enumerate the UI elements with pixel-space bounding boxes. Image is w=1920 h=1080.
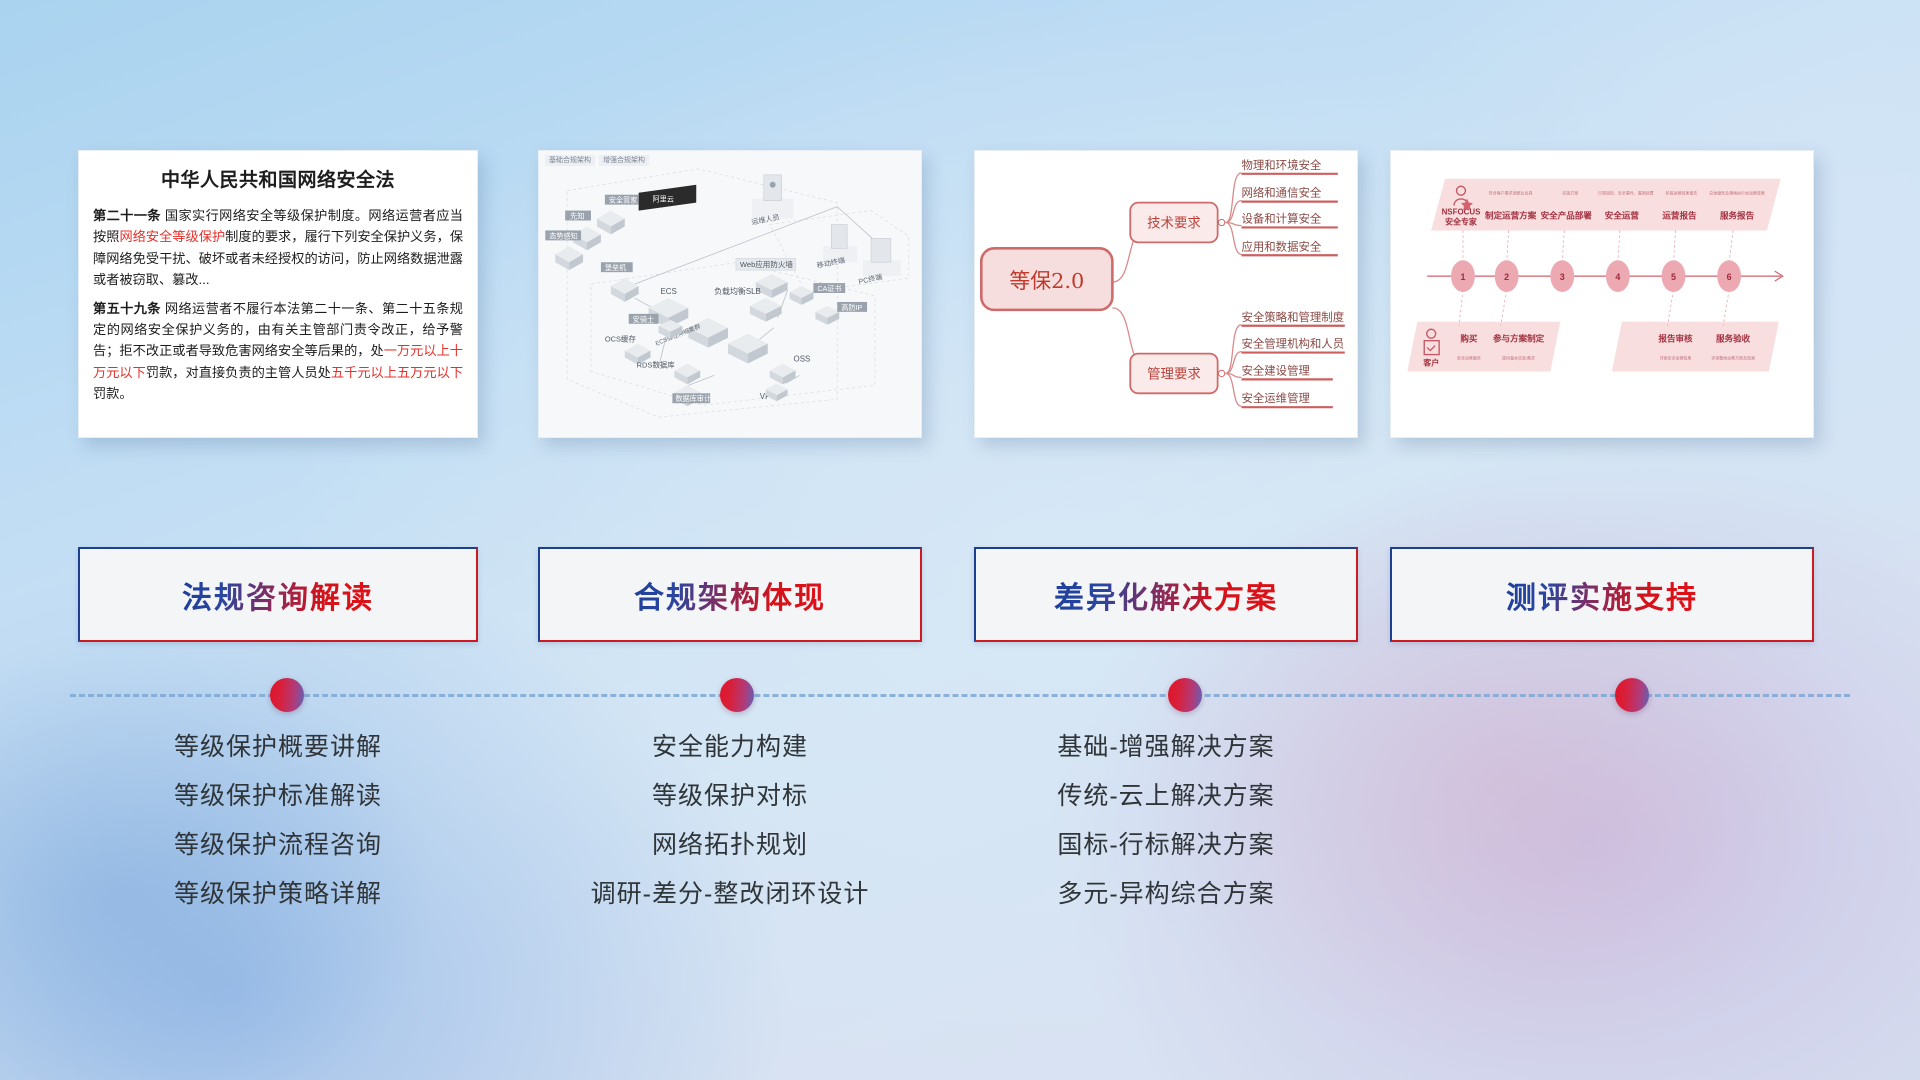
svg-text:安全管家: 安全管家 bbox=[609, 196, 638, 205]
list-item: 等级保护策略详解 bbox=[78, 882, 478, 907]
title-boxes-row: 法规咨询解读 合规架构体现 差异化解决方案 测评实施支持 bbox=[0, 547, 1920, 645]
mindmap-leaf-1-2: 安全建设管理 bbox=[1241, 363, 1310, 377]
feature-lists-row: 等级保护概要讲解 等级保护标准解读 等级保护流程咨询 等级保护策略详解 安全能力… bbox=[0, 735, 1920, 1035]
svg-text:阿里云: 阿里云 bbox=[653, 195, 674, 204]
mindmap-leaf-1-1: 安全管理机构和人员 bbox=[1241, 337, 1344, 351]
nsfocus-bottom-3-title: 服务验收 bbox=[1716, 333, 1751, 344]
list-item: 多元-异构综合方案 bbox=[974, 882, 1358, 907]
mindmap-leaf-0-1: 网络和通信安全 bbox=[1241, 186, 1321, 200]
mindmap-leaf-0-0: 物理和环境安全 bbox=[1241, 158, 1321, 172]
mindmap-leaf-0-3: 应用和数据安全 bbox=[1241, 239, 1321, 253]
mindmap-svg: 等保2.0 技术要求 物理和环境安全 网络和通信安全 设备和计算安全 bbox=[975, 151, 1357, 437]
mindmap-leaf-1-0: 安全策略和管理制度 bbox=[1241, 310, 1344, 324]
svg-text:OCS缓存: OCS缓存 bbox=[605, 334, 637, 344]
nsfocus-brand-line1: NSFOCUS bbox=[1442, 208, 1481, 217]
feature-list-3: 基础-增强解决方案 传统-云上解决方案 国标-行标解决方案 多元-异构综合方案 bbox=[974, 735, 1358, 931]
architecture-title-tag: 阿里云 bbox=[639, 185, 697, 211]
nsfocus-bottom-1-title: 参与方案制定 bbox=[1493, 333, 1545, 344]
svg-text:OSS: OSS bbox=[794, 355, 811, 364]
law-article-21-highlight: 网络安全等级保护 bbox=[119, 229, 225, 244]
slide-stage: 中华人民共和国网络安全法 第二十一条 国家实行网络安全等级保护制度。网络运营者应… bbox=[0, 0, 1920, 1080]
nsfocus-canvas: NSFOCUS 安全专家 客户 制定运营方案 符合客户需求调研后出具 安全产品部… bbox=[1391, 151, 1813, 437]
title-box-3-label: 差异化解决方案 bbox=[1054, 573, 1278, 617]
nsfocus-top-4-title: 服务报告 bbox=[1720, 210, 1755, 221]
list-item: 网络拓扑规划 bbox=[538, 833, 922, 858]
list-item: 传统-云上解决方案 bbox=[974, 784, 1358, 809]
list-item: 等级保护对标 bbox=[538, 784, 922, 809]
nsfocus-bottom-0-title: 购买 bbox=[1460, 333, 1478, 344]
image-cards-row: 中华人民共和国网络安全法 第二十一条 国家实行网络安全等级保护制度。网络运营者应… bbox=[0, 150, 1920, 450]
mindmap-branch-1-label: 管理要求 bbox=[1147, 366, 1201, 382]
nsfocus-brand-line2: 安全专家 bbox=[1445, 216, 1477, 226]
list-item: 调研-差分-整改闭环设计 bbox=[538, 882, 922, 907]
list-item: 基础-增强解决方案 bbox=[974, 735, 1358, 760]
svg-text:数据库审计: 数据库审计 bbox=[675, 394, 711, 403]
nsfocus-step-2: 3 bbox=[1560, 272, 1565, 282]
law-body: 中华人民共和国网络安全法 第二十一条 国家实行网络安全等级保护制度。网络运营者应… bbox=[79, 151, 477, 421]
mindmap-leaf-1-3: 安全运维管理 bbox=[1241, 391, 1310, 405]
svg-text:高防IP: 高防IP bbox=[841, 303, 862, 312]
svg-text:先知: 先知 bbox=[570, 212, 584, 221]
list-item: 安全能力构建 bbox=[538, 735, 922, 760]
law-article-59-label: 第五十九条 bbox=[93, 301, 161, 316]
mindmap-root-label: 等保2.0 bbox=[1009, 269, 1084, 293]
nsfocus-customer-label: 客户 bbox=[1422, 358, 1439, 368]
list-item: 等级保护概要讲解 bbox=[78, 735, 478, 760]
feature-list-2: 安全能力构建 等级保护对标 网络拓扑规划 调研-差分-整改闭环设计 bbox=[538, 735, 922, 931]
svg-text:负载均衡SLB: 负载均衡SLB bbox=[714, 286, 761, 296]
timeline-dot-2[interactable] bbox=[720, 678, 754, 712]
nsfocus-step-5: 6 bbox=[1727, 272, 1732, 282]
svg-text:堡垒机: 堡垒机 bbox=[605, 263, 626, 272]
timeline bbox=[70, 693, 1850, 697]
svg-text:ECS: ECS bbox=[660, 287, 676, 296]
nsfocus-step-1: 2 bbox=[1504, 272, 1509, 282]
law-article-59-text-2: 罚款，对直接负责的主管人员处 bbox=[146, 365, 331, 380]
timeline-rail bbox=[70, 694, 1850, 697]
list-item: 等级保护流程咨询 bbox=[78, 833, 478, 858]
nsfocus-bottom-1-sub: 提供基本信息/需求 bbox=[1502, 356, 1535, 361]
nsfocus-top-3-sub: 阶段运营效果报告 bbox=[1666, 191, 1698, 196]
nsfocus-step-4: 5 bbox=[1671, 272, 1676, 282]
law-article-59: 第五十九条 网络运营者不履行本法第二十一条、第二十五条规定的网络安全保护义务的，… bbox=[93, 298, 463, 405]
title-box-2-label: 合规架构体现 bbox=[634, 573, 826, 617]
nsfocus-bottom-0-sub: 安全运营服务 bbox=[1457, 356, 1481, 361]
nsfocus-top-4-sub: 总体服务及落地执行本运营效果 bbox=[1709, 191, 1765, 196]
nsfocus-svg: NSFOCUS 安全专家 客户 制定运营方案 符合客户需求调研后出具 安全产品部… bbox=[1391, 151, 1813, 437]
title-box-2[interactable]: 合规架构体现 bbox=[538, 547, 922, 642]
nsfocus-bottom-2-sub: 评审安全运营效果 bbox=[1660, 356, 1692, 361]
timeline-dot-1[interactable] bbox=[270, 678, 304, 712]
mindmap-branch-0-label: 技术要求 bbox=[1147, 215, 1201, 231]
nsfocus-step-3: 4 bbox=[1615, 272, 1620, 282]
title-box-4[interactable]: 测评实施支持 bbox=[1390, 547, 1814, 642]
card-architecture-diagram[interactable]: 基础合规架构 增强合规架构 bbox=[538, 150, 922, 438]
nsfocus-top-2-sub: 日常巡检、安全事件、漏洞处置 bbox=[1598, 191, 1654, 196]
nsfocus-top-3-title: 运营报告 bbox=[1662, 210, 1697, 221]
architecture-svg: 阿里云 安全管家 bbox=[539, 151, 921, 437]
law-article-59-text-3: 罚款。 bbox=[93, 386, 133, 401]
title-box-1-label: 法规咨询解读 bbox=[182, 573, 374, 617]
svg-text:安骑士: 安骑士 bbox=[633, 315, 654, 324]
nsfocus-top-0-sub: 符合客户需求调研后出具 bbox=[1489, 191, 1533, 196]
svg-text:CA证书: CA证书 bbox=[817, 284, 841, 293]
law-article-59-highlight-2: 五千元以上五万元以下 bbox=[331, 365, 463, 380]
timeline-dot-3[interactable] bbox=[1168, 678, 1202, 712]
mindmap-leaf-0-2: 设备和计算安全 bbox=[1241, 212, 1321, 226]
list-item: 等级保护标准解读 bbox=[78, 784, 478, 809]
card-law-text[interactable]: 中华人民共和国网络安全法 第二十一条 国家实行网络安全等级保护制度。网络运营者应… bbox=[78, 150, 478, 438]
nsfocus-top-1-sub: 实施方案 bbox=[1562, 191, 1578, 196]
nsfocus-top-1-title: 安全产品部署 bbox=[1541, 210, 1593, 221]
svg-text:RDS数据库: RDS数据库 bbox=[637, 359, 676, 369]
title-box-3[interactable]: 差异化解决方案 bbox=[974, 547, 1358, 642]
card-mindmap[interactable]: 等保2.0 技术要求 物理和环境安全 网络和通信安全 设备和计算安全 bbox=[974, 150, 1358, 438]
law-article-21-label: 第二十一条 bbox=[93, 208, 161, 223]
law-title: 中华人民共和国网络安全法 bbox=[93, 165, 463, 192]
timeline-dot-4[interactable] bbox=[1615, 678, 1649, 712]
svg-text:态势感知: 态势感知 bbox=[549, 231, 578, 240]
nsfocus-step-0: 1 bbox=[1460, 272, 1465, 282]
law-article-21: 第二十一条 国家实行网络安全等级保护制度。网络运营者应当按照网络安全等级保护制度… bbox=[93, 205, 463, 291]
feature-list-1: 等级保护概要讲解 等级保护标准解读 等级保护流程咨询 等级保护策略详解 bbox=[78, 735, 478, 931]
nsfocus-top-0-title: 制定运营方案 bbox=[1485, 210, 1537, 221]
svg-text:Web应用防火墙: Web应用防火墙 bbox=[740, 259, 793, 269]
architecture-canvas: 基础合规架构 增强合规架构 bbox=[539, 151, 921, 437]
nsfocus-top-2-title: 安全运营 bbox=[1605, 210, 1640, 221]
nsfocus-bottom-3-sub: 评审整体运营方案及效果 bbox=[1711, 356, 1755, 361]
mindmap-canvas: 等保2.0 技术要求 物理和环境安全 网络和通信安全 设备和计算安全 bbox=[975, 151, 1357, 437]
card-service-timeline[interactable]: NSFOCUS 安全专家 客户 制定运营方案 符合客户需求调研后出具 安全产品部… bbox=[1390, 150, 1814, 438]
nsfocus-bottom-2-title: 报告审核 bbox=[1658, 333, 1693, 344]
title-box-1[interactable]: 法规咨询解读 bbox=[78, 547, 478, 642]
title-box-4-label: 测评实施支持 bbox=[1506, 573, 1698, 617]
list-item: 国标-行标解决方案 bbox=[974, 833, 1358, 858]
